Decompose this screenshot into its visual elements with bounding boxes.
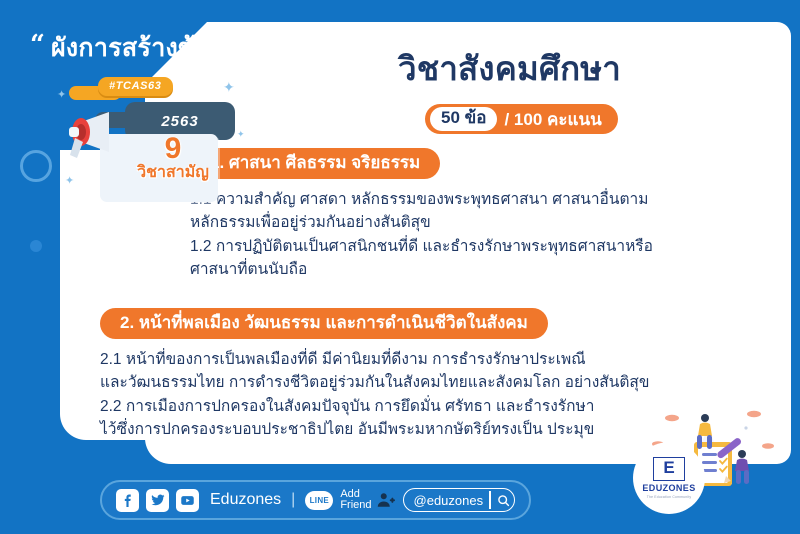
megaphone-icon: [63, 108, 123, 166]
section-1-line: 1.1 ความสำคัญ ศาสดา หลักธรรมของพระพุทธศา…: [190, 188, 653, 212]
logo-tagline: The Education Community: [647, 495, 692, 499]
subject-count-number: 9: [133, 134, 213, 164]
add-friend-label[interactable]: Add Friend: [340, 489, 371, 511]
decor-ring: [20, 150, 52, 182]
total-points: / 100 คะแนน: [504, 106, 601, 133]
question-count: 50 ข้อ: [430, 107, 497, 131]
sparkle-icon: ✦: [65, 176, 74, 187]
subject-title: วิชาสังคมศึกษา: [398, 42, 621, 95]
sparkle-icon: ✦: [57, 90, 66, 101]
section-1-line: 1.2 การปฏิบัติตนเป็นศาสนิกชนที่ดี และธำร…: [190, 235, 653, 259]
subject-count-label: วิชาสามัญ: [133, 164, 213, 182]
section-2-line: 2.1 หน้าที่ของการเป็นพลเมืองที่ดี มีค่าน…: [100, 348, 650, 372]
blueprint-title-text: ผังการสร้างข้อสอบ: [51, 34, 258, 63]
decor-dot: [30, 240, 42, 252]
section-2: 2. หน้าที่พลเมือง วัฒนธรรม และการดำเนินช…: [100, 308, 650, 442]
line-icon[interactable]: LINE: [305, 491, 333, 510]
logo-initial: E: [653, 457, 684, 481]
brand-name: Eduzones: [210, 491, 281, 509]
blueprint-title: “ ผังการสร้างข้อสอบ ”: [30, 34, 279, 63]
facebook-icon[interactable]: [116, 489, 139, 512]
eduzones-logo: E EDUZONES The Education Community: [633, 442, 705, 514]
section-1-line: หลักธรรมเพื่ออยู่ร่วมกันอย่างสันติสุข: [190, 211, 653, 235]
add-friend-icon[interactable]: [376, 491, 396, 509]
infographic-canvas: “ ผังการสร้างข้อสอบ ” #TCAS63 2563 9 วิช…: [0, 0, 800, 534]
hashtag-chip: #TCAS63: [98, 77, 173, 96]
section-1: 1. ศาสนา ศีลธรรม จริยธรรม 1.1 ความสำคัญ …: [190, 148, 653, 282]
twitter-icon[interactable]: [146, 489, 169, 512]
logo-name: EDUZONES: [642, 483, 695, 493]
section-2-line: ไว้ซึ่งการปกครองระบอบประชาธิปไตย อันมีพร…: [100, 418, 650, 442]
youtube-icon[interactable]: [176, 489, 199, 512]
handle-search-box[interactable]: @eduzones: [403, 488, 515, 512]
search-icon[interactable]: [497, 494, 510, 507]
sparkle-icon: ✦: [223, 80, 235, 94]
handle-divider: [489, 491, 491, 509]
section-2-heading: 2. หน้าที่พลเมือง วัฒนธรรม และการดำเนินช…: [100, 308, 548, 339]
section-2-line: 2.2 การเมืองการปกครองในสังคมปัจจุบัน การ…: [100, 395, 650, 419]
subject-count-group: 9 วิชาสามัญ: [133, 134, 213, 182]
add-friend-line-2: Friend: [340, 499, 371, 511]
section-1-body: 1.1 ความสำคัญ ศาสดา หลักธรรมของพระพุทธศา…: [190, 188, 653, 282]
tcas-badge-group: #TCAS63 2563 9 วิชาสามัญ ✦ ✦ ✦ ✦ ✦: [55, 72, 245, 197]
year-text: 2563: [161, 113, 198, 130]
quote-open-icon: “: [30, 34, 45, 57]
line-label: LINE: [310, 496, 329, 505]
sparkle-icon: ✦: [237, 130, 245, 139]
section-1-line: ศาสนาที่ตนนับถือ: [190, 258, 653, 282]
section-2-line: และวัฒนธรรมไทย การดำรงชีวิตอยู่ร่วมกันใน…: [100, 371, 650, 395]
footer-divider: |: [291, 491, 295, 509]
handle-text: @eduzones: [414, 493, 484, 508]
social-footer-bar[interactable]: Eduzones | LINE Add Friend @eduzones: [100, 480, 531, 520]
quote-close-icon: ”: [264, 34, 279, 57]
add-friend-line-1: Add: [340, 488, 360, 500]
score-pill: 50 ข้อ / 100 คะแนน: [425, 104, 618, 134]
section-2-body: 2.1 หน้าที่ของการเป็นพลเมืองที่ดี มีค่าน…: [100, 348, 650, 442]
